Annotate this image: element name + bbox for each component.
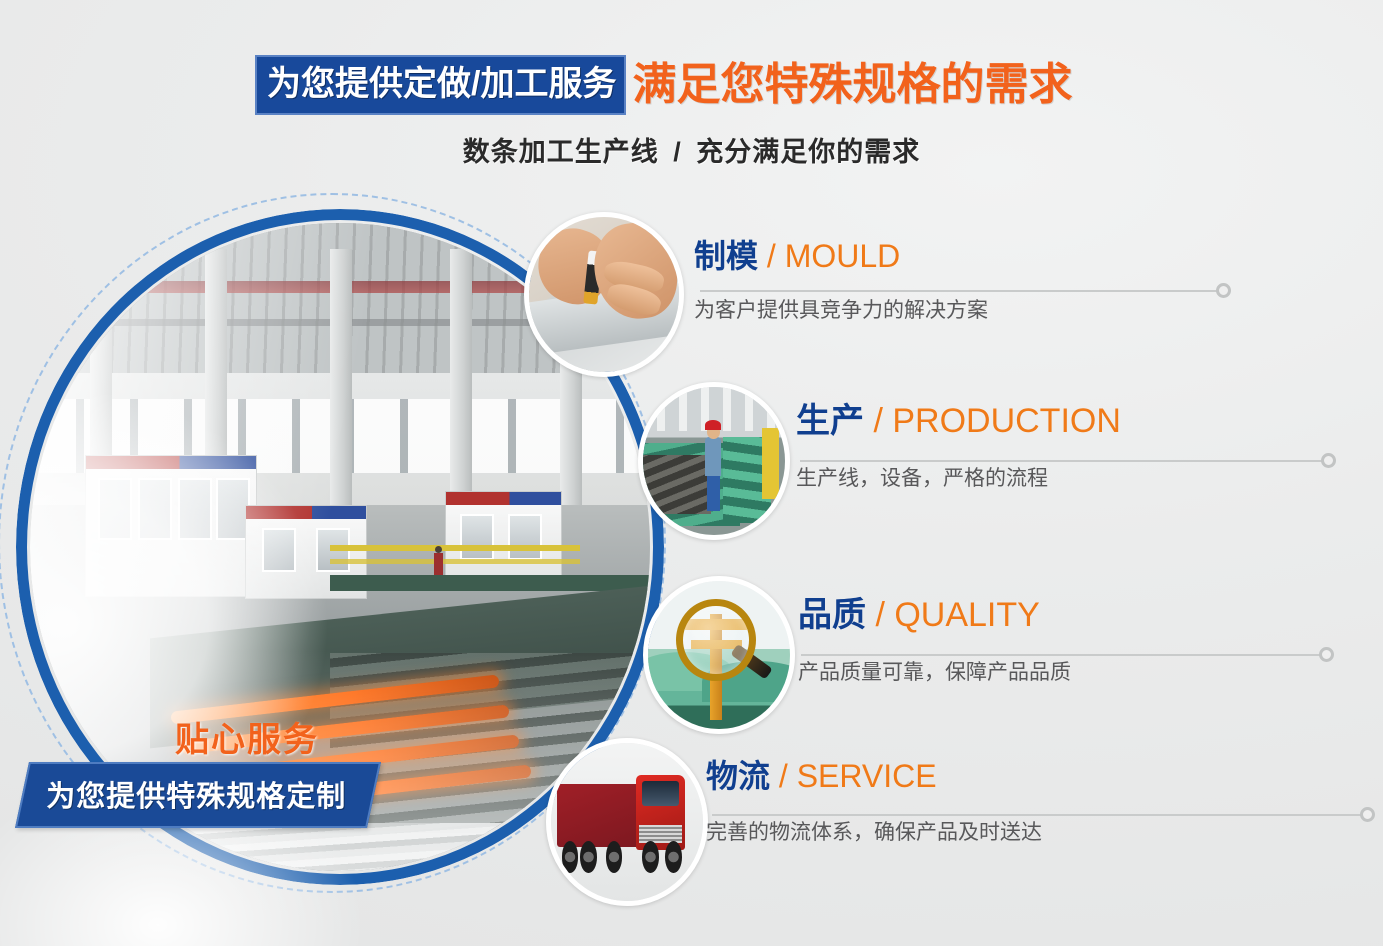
feature-separator: / — [864, 402, 892, 440]
logistics-truck-icon — [546, 738, 708, 906]
feature-text: 物流 / SERVICE 完善的物流体系，确保产品及时送达 — [706, 760, 1042, 846]
feature-title-en: MOULD — [785, 238, 901, 274]
feature-title-cn: 制模 — [694, 238, 758, 274]
headline-row: 为您提供定做/加工服务 满足您特殊规格的需求 — [255, 55, 1072, 115]
poster-canvas: 为您提供定做/加工服务 满足您特殊规格的需求 数条加工生产线 / 充分满足你的需… — [0, 0, 1383, 946]
feature-description: 产品质量可靠，保障产品品质 — [798, 656, 1071, 686]
feature-divider-line — [800, 460, 1327, 462]
feature-description: 生产线，设备，严格的流程 — [796, 462, 1121, 492]
feature-heading: 制模 / MOULD — [694, 240, 988, 272]
feature-separator: / — [758, 238, 785, 274]
feature-text: 生产 / PRODUCTION 生产线，设备，严格的流程 — [796, 404, 1121, 492]
feature-separator: / — [770, 758, 797, 794]
production-worker-icon — [638, 382, 790, 540]
service-badge: 为您提供特殊规格定制 — [15, 762, 381, 828]
feature-endpoint-dot — [1360, 807, 1375, 822]
feature-separator: / — [866, 596, 894, 634]
feature-description: 为客户提供具竞争力的解决方案 — [694, 294, 988, 324]
feature-divider-line — [712, 814, 1362, 816]
feature-heading: 生产 / PRODUCTION — [796, 404, 1121, 438]
feature-endpoint-dot — [1321, 453, 1336, 468]
feature-heading: 品质 / QUALITY — [798, 598, 1071, 632]
headline-orange: 满足您特殊规格的需求 — [632, 63, 1072, 107]
feature-title-en: SERVICE — [797, 758, 937, 794]
feature-divider-line — [801, 654, 1325, 656]
feature-text: 制模 / MOULD 为客户提供具竞争力的解决方案 — [694, 240, 988, 324]
feature-title-cn: 生产 — [796, 402, 864, 440]
feature-divider-line — [700, 290, 1222, 292]
service-heading: 贴心服务 — [175, 712, 319, 761]
feature-title-cn: 物流 — [706, 758, 770, 794]
subtitle: 数条加工生产线 / 充分满足你的需求 — [0, 130, 1383, 169]
mould-scriber-icon — [524, 212, 684, 377]
feature-endpoint-dot — [1216, 283, 1231, 298]
feature-endpoint-dot — [1319, 647, 1334, 662]
feature-description: 完善的物流体系，确保产品及时送达 — [706, 816, 1042, 846]
feature-title-en: QUALITY — [894, 596, 1039, 634]
service-badge-label: 为您提供特殊规格定制 — [46, 773, 346, 815]
feature-title-en: PRODUCTION — [892, 402, 1121, 440]
quality-magnifier-icon — [643, 576, 795, 734]
feature-heading: 物流 / SERVICE — [706, 760, 1042, 792]
subtitle-right: 充分满足你的需求 — [696, 137, 920, 167]
headline-badge: 为您提供定做/加工服务 — [255, 55, 626, 115]
feature-title-cn: 品质 — [798, 596, 866, 634]
feature-text: 品质 / QUALITY 产品质量可靠，保障产品品质 — [798, 598, 1071, 686]
subtitle-left: 数条加工生产线 — [463, 137, 659, 167]
subtitle-separator: / — [667, 137, 688, 167]
